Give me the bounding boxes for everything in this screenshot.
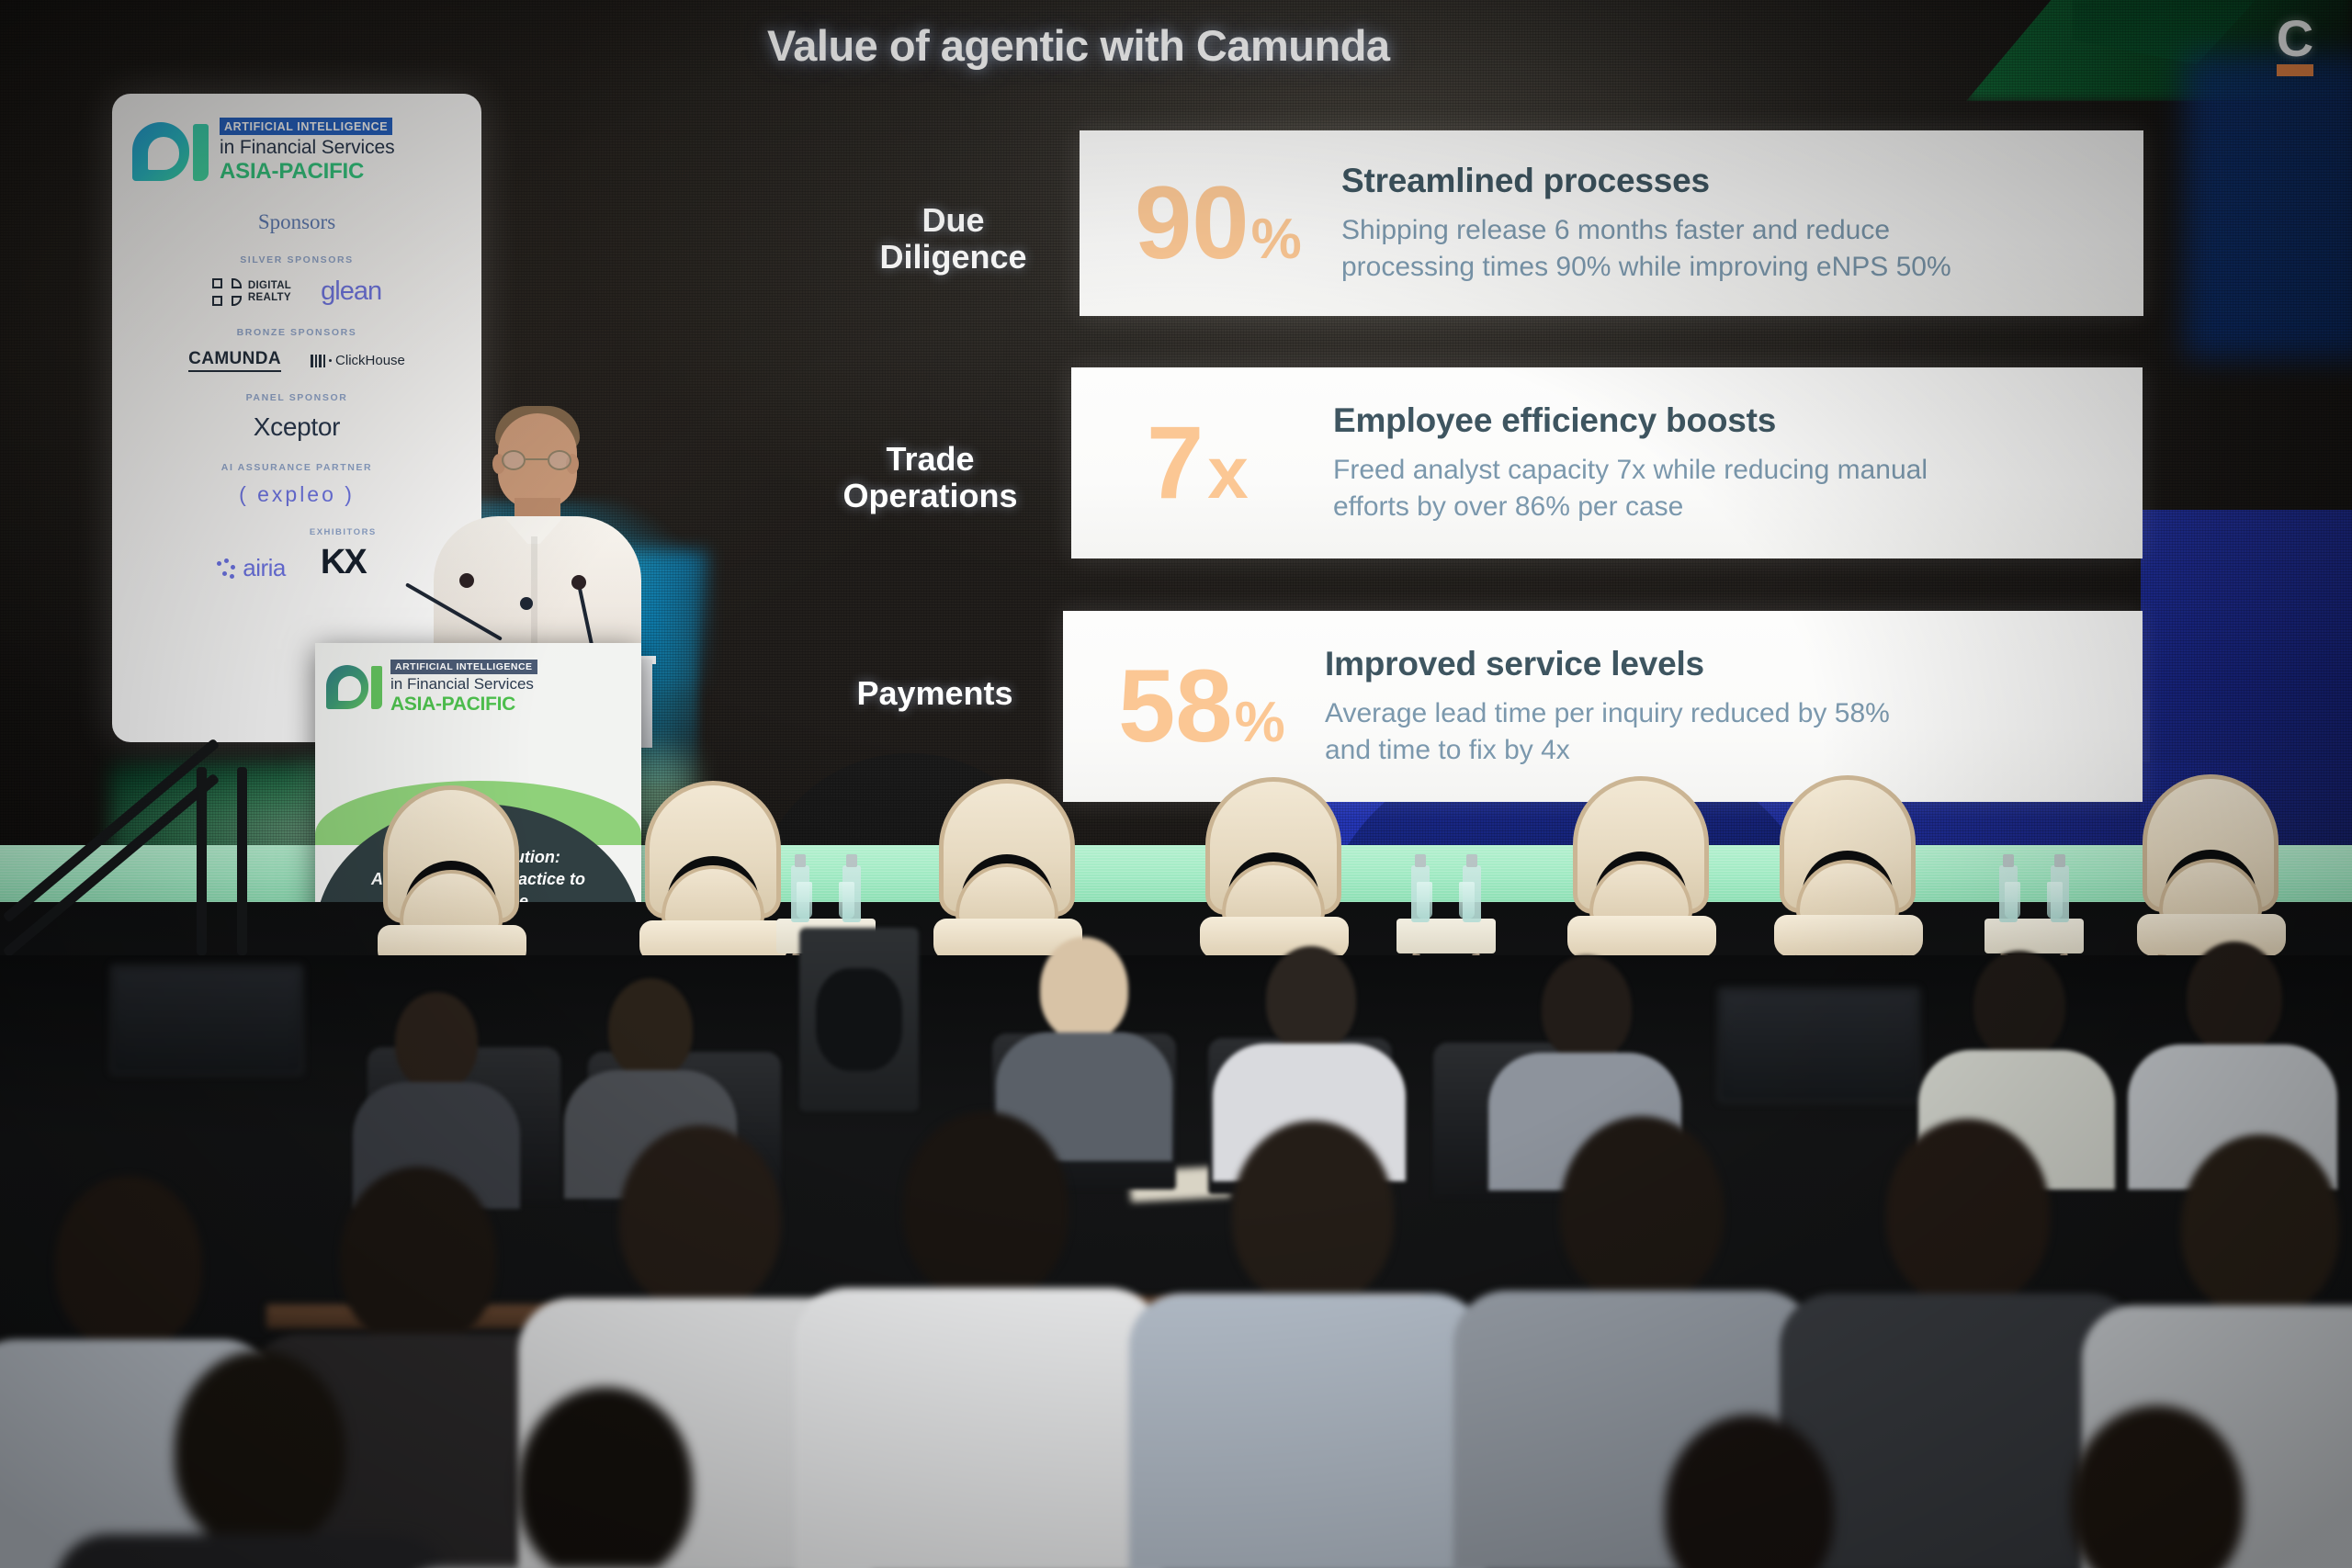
lapel-microphone xyxy=(520,597,533,610)
drinking-glass xyxy=(839,882,854,919)
stat-value: 7 x xyxy=(1071,417,1333,510)
bronze-sponsor-row: CAMUNDA ClickHouse xyxy=(112,349,481,372)
ai-letter-a-shape xyxy=(132,122,189,181)
camunda-letter-c: C xyxy=(2275,17,2315,61)
clickhouse-bars-icon xyxy=(311,355,325,367)
logo-line-region: ASIA-PACIFIC xyxy=(220,159,394,185)
category-label-due-diligence: Due Diligence xyxy=(854,202,1052,276)
bracket-icon xyxy=(212,278,242,306)
clickhouse-logo: ClickHouse xyxy=(311,353,405,368)
stat-card-payments: 58 % Improved service levels Average lea… xyxy=(1063,611,2143,802)
stage-monitor-speaker xyxy=(799,928,919,1111)
category-line-2: Operations xyxy=(808,478,1052,514)
category-line-1: Due xyxy=(854,202,1052,239)
stat-number: 58 xyxy=(1118,660,1233,753)
audience-area xyxy=(0,955,2352,1568)
railing-post xyxy=(237,767,247,955)
audience-member-foreground xyxy=(1589,1415,1893,1568)
railing-bar xyxy=(2,773,220,957)
slide-title: Value of agentic with Camunda xyxy=(767,20,1390,71)
card-subtext-line-2: and time to fix by 4x xyxy=(1325,732,2109,769)
camunda-sponsor-logo: CAMUNDA xyxy=(188,349,281,372)
card-subtext: Freed analyst capacity 7x while reducing… xyxy=(1333,452,2109,525)
speaker-presenter xyxy=(408,402,647,678)
stat-value: 58 % xyxy=(1063,660,1325,753)
stage-stair-railing xyxy=(0,730,276,955)
confidence-monitor xyxy=(110,964,303,1075)
clickhouse-wordmark: ClickHouse xyxy=(335,353,405,368)
audience-member xyxy=(1162,1121,1447,1568)
ai-letter-i-shape xyxy=(193,124,209,181)
podium-line-region: ASIA-PACIFIC xyxy=(390,694,537,716)
podium-logo-wordmark: ARTIFICIAL INTELLIGENCE in Financial Ser… xyxy=(390,658,537,716)
speaker-glasses xyxy=(500,450,577,470)
card-subtext-line-1: Freed analyst capacity 7x while reducing… xyxy=(1333,452,2109,489)
drinking-glass xyxy=(797,882,812,919)
airia-logo: airia xyxy=(217,554,286,582)
ai-letter-a-shape xyxy=(326,665,368,709)
drinking-glass xyxy=(1459,882,1475,919)
kx-logo: KX xyxy=(310,543,377,582)
category-line-1: Trade xyxy=(808,441,1052,478)
railing-post xyxy=(197,767,207,955)
confidence-monitor xyxy=(1718,987,1920,1102)
microphone-head-left xyxy=(459,573,474,588)
stat-unit: x xyxy=(1207,440,1249,506)
digital-realty-line-1: DIGITAL xyxy=(248,280,291,292)
ai-logo-icon xyxy=(326,665,383,709)
stat-unit: % xyxy=(1235,697,1285,749)
card-subtext-line-1: Shipping release 6 months faster and red… xyxy=(1341,212,2110,249)
drinking-glass xyxy=(1417,882,1432,919)
card-body: Employee efficiency boosts Freed analyst… xyxy=(1333,401,2143,525)
card-subtext: Average lead time per inquiry reduced by… xyxy=(1325,695,2109,769)
stat-number: 7 xyxy=(1147,417,1204,510)
card-heading: Streamlined processes xyxy=(1341,162,2110,200)
card-heading: Improved service levels xyxy=(1325,645,2109,683)
railing-bar xyxy=(2,738,220,922)
card-subtext-line-1: Average lead time per inquiry reduced by… xyxy=(1325,695,2109,732)
microphone-head-right xyxy=(571,575,586,590)
drinking-glass xyxy=(2047,882,2063,919)
airia-wordmark: airia xyxy=(243,554,286,582)
card-heading: Employee efficiency boosts xyxy=(1333,401,2109,440)
audience-member-foreground xyxy=(441,1387,753,1568)
stat-value: 90 % xyxy=(1080,177,1341,270)
digital-realty-line-2: REALTY xyxy=(248,292,291,304)
glean-logo: glean xyxy=(321,276,381,307)
audience-member xyxy=(831,1111,1125,1568)
digital-realty-wordmark: DIGITAL REALTY xyxy=(248,280,291,304)
podium-line-financial-services: in Financial Services xyxy=(390,675,537,694)
camunda-logo: C xyxy=(2275,17,2315,76)
drinking-glass xyxy=(2005,882,2020,919)
event-logo: ARTIFICIAL INTELLIGENCE in Financial Ser… xyxy=(112,94,481,185)
category-line-1: Payments xyxy=(818,675,1052,712)
stat-card-due-diligence: 90 % Streamlined processes Shipping rele… xyxy=(1080,130,2143,316)
audience-member-foreground xyxy=(101,1350,404,1568)
category-line-2: Diligence xyxy=(854,239,1052,276)
ai-logo-icon xyxy=(132,122,209,181)
event-logo-wordmark: ARTIFICIAL INTELLIGENCE in Financial Ser… xyxy=(220,118,394,185)
category-label-payments: Payments xyxy=(818,675,1052,712)
sponsors-heading: Sponsors xyxy=(112,210,481,234)
audience-member-foreground xyxy=(1994,1405,2306,1568)
podium-line-artificial-intelligence: ARTIFICIAL INTELLIGENCE xyxy=(390,660,537,674)
logo-line-financial-services: in Financial Services xyxy=(220,137,394,159)
exhibitors-label: EXHIBITORS xyxy=(310,527,377,537)
card-subtext-line-2: efforts by over 86% per case xyxy=(1333,489,2109,525)
ai-letter-i-shape xyxy=(371,666,382,709)
card-subtext: Shipping release 6 months faster and red… xyxy=(1341,212,2110,286)
podium-logo: ARTIFICIAL INTELLIGENCE in Financial Ser… xyxy=(315,643,641,716)
tier-label-silver: SILVER SPONSORS xyxy=(112,254,481,265)
stat-number: 90 xyxy=(1135,177,1249,270)
silver-sponsor-row: DIGITAL REALTY glean xyxy=(112,276,481,307)
digital-realty-logo: DIGITAL REALTY xyxy=(212,278,291,306)
stat-card-trade-operations: 7 x Employee efficiency boosts Freed ana… xyxy=(1071,367,2143,558)
clickhouse-dot-icon xyxy=(329,359,332,362)
tier-label-bronze: BRONZE SPONSORS xyxy=(112,327,481,338)
card-subtext-line-2: processing times 90% while improving eNP… xyxy=(1341,249,2110,286)
stat-unit: % xyxy=(1251,214,1302,265)
logo-line-artificial-intelligence: ARTIFICIAL INTELLIGENCE xyxy=(220,118,392,135)
card-body: Improved service levels Average lead tim… xyxy=(1325,645,2143,769)
category-label-trade-operations: Trade Operations xyxy=(808,441,1052,515)
airia-node-icon xyxy=(217,558,237,579)
card-body: Streamlined processes Shipping release 6… xyxy=(1341,162,2143,286)
conference-photo-scene: Value of agentic with Camunda C Due Dili… xyxy=(0,0,2352,1568)
wall-blue-glow xyxy=(2187,55,2352,358)
exhibitors-column: EXHIBITORS KX xyxy=(310,527,377,582)
